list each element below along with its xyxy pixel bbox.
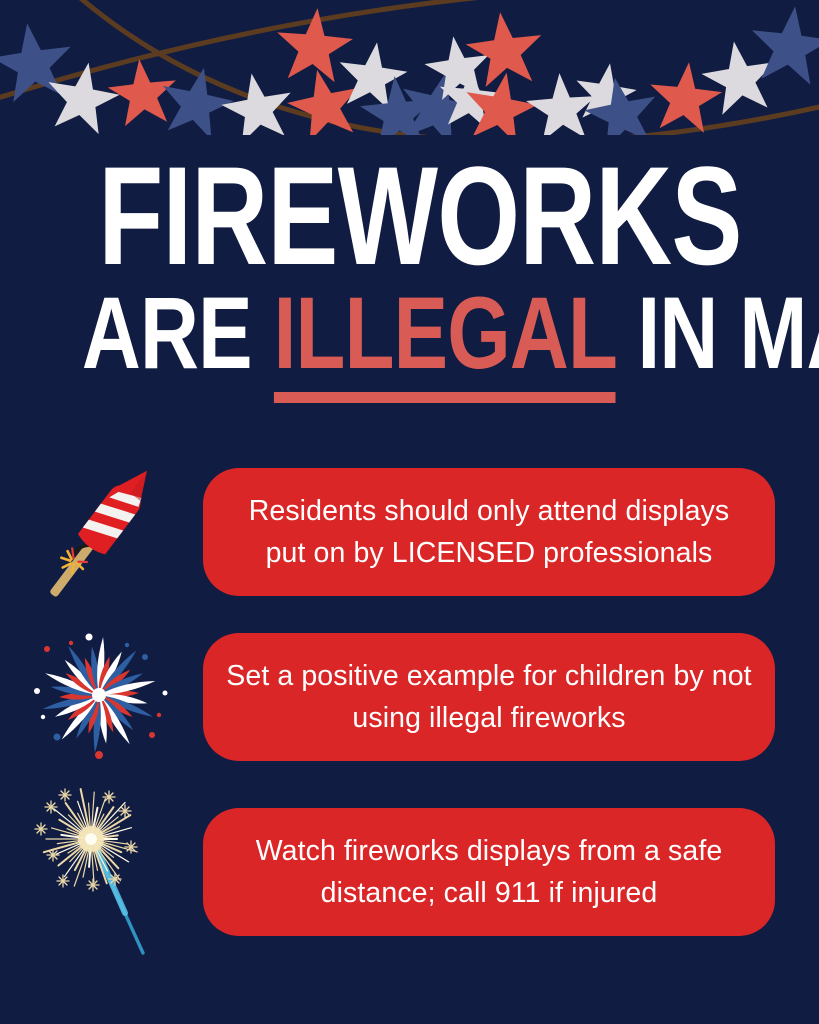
page-title: FIREWORKS ARE ILLEGAL IN MA! (0, 160, 819, 380)
sparkler-spark-star (103, 791, 115, 803)
sparkler-spark-star (35, 823, 47, 835)
tip-pill-2: Set a positive example for children by n… (203, 633, 775, 761)
burst-spark-dot (124, 643, 128, 647)
burst-spark-dot (34, 688, 40, 694)
tip-pill-3: Watch fireworks displays from a safe dis… (203, 808, 775, 936)
banner-star (646, 58, 725, 134)
fireworks-safety-poster: FIREWORKS ARE ILLEGAL IN MA! (0, 0, 819, 1024)
tip-row-1: Residents should only attend displays pu… (0, 463, 819, 601)
burst-spark-dot (44, 646, 50, 652)
sparkler-spark-star (109, 873, 121, 885)
title-line-2-after: IN MA! (616, 276, 819, 390)
burst-spark-dot (53, 734, 60, 741)
sparkler-spark-star (125, 841, 137, 853)
burst-spark-dot (142, 654, 148, 660)
tip-row-3: Watch fireworks displays from a safe dis… (0, 803, 819, 941)
banner-star (41, 56, 124, 135)
sparkler-spark-star (119, 805, 131, 817)
burst-spark-dot (149, 732, 155, 738)
burst-spark-dot (68, 641, 72, 645)
tip-text-2: Set a positive example for children by n… (225, 655, 753, 739)
title-illegal-emphasis: ILLEGAL (274, 276, 616, 403)
banner-star (524, 71, 599, 135)
firework-burst-icon (0, 628, 203, 766)
title-line-2: ARE ILLEGAL IN MA! (82, 286, 737, 380)
sparkler-icon (0, 803, 203, 941)
sparkler-ray (53, 808, 85, 834)
burst-spark-dot (156, 713, 160, 717)
burst-spark-dot (40, 715, 44, 719)
burst-spark-dot (162, 691, 167, 696)
star-garland-banner (0, 0, 819, 135)
sparkler-spark-star (57, 875, 69, 887)
title-line-2-before: ARE (82, 276, 274, 390)
title-line-1: FIREWORKS (98, 160, 720, 272)
sparkler-spark-star (87, 879, 99, 891)
sparkler-spark-star (45, 801, 57, 813)
banner-star-group (0, 1, 819, 135)
sparkler-spark-star (59, 789, 71, 801)
tip-row-2: Set a positive example for children by n… (0, 628, 819, 766)
tip-pill-1: Residents should only attend displays pu… (203, 468, 775, 596)
banner-star (697, 36, 781, 117)
sparkler-spark-star (47, 849, 59, 861)
tip-text-1: Residents should only attend displays pu… (225, 490, 753, 574)
burst-spark-dot (95, 751, 103, 759)
burst-spark-dot (85, 634, 92, 641)
firework-rocket-icon (0, 463, 203, 601)
tip-text-3: Watch fireworks displays from a safe dis… (225, 830, 753, 914)
